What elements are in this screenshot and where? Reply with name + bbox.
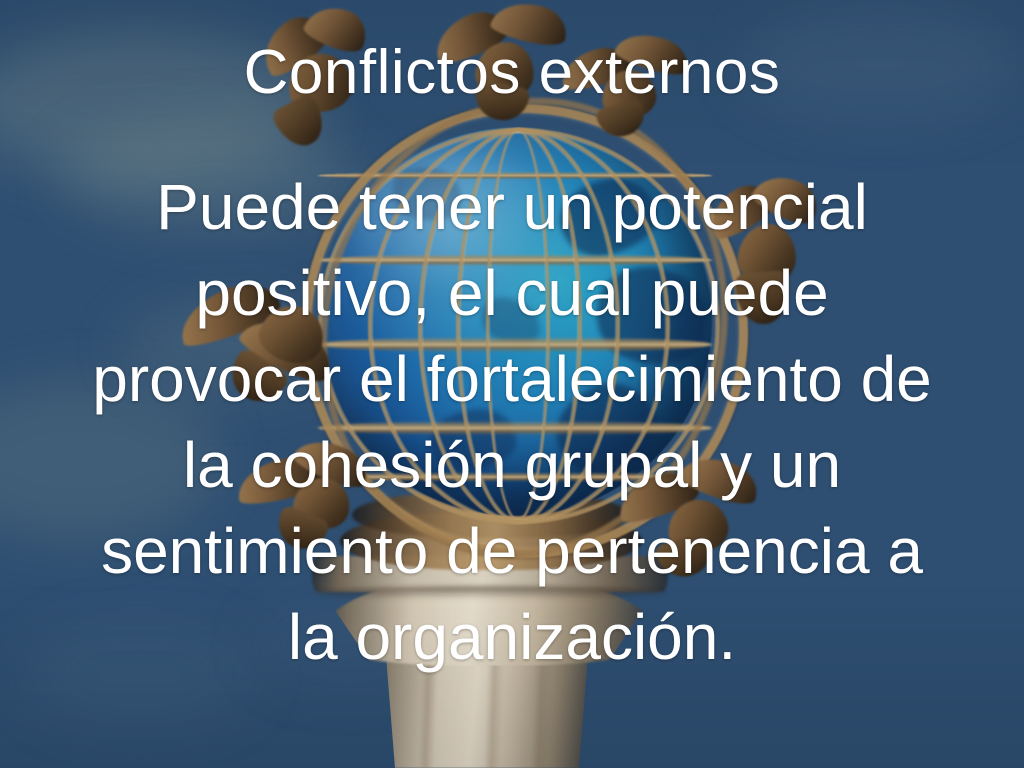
column-shadow [316,586,664,600]
dove-sculpture [430,0,570,120]
dove-tail [654,531,718,583]
presentation-slide: Conflictos externos Puede tener un poten… [0,0,1024,768]
dove-sculpture [560,26,690,136]
dove-sculpture [176,272,346,410]
dove-sculpture [236,430,376,550]
dove-wing [749,166,826,231]
dove-sculpture [612,450,762,578]
dove-sculpture [258,2,378,152]
dove-sculpture [704,176,822,328]
cloud-wisp [740,10,1020,120]
cloud-wisp [20,620,260,730]
background-photograph [0,0,1024,768]
dove-tail [734,270,791,326]
